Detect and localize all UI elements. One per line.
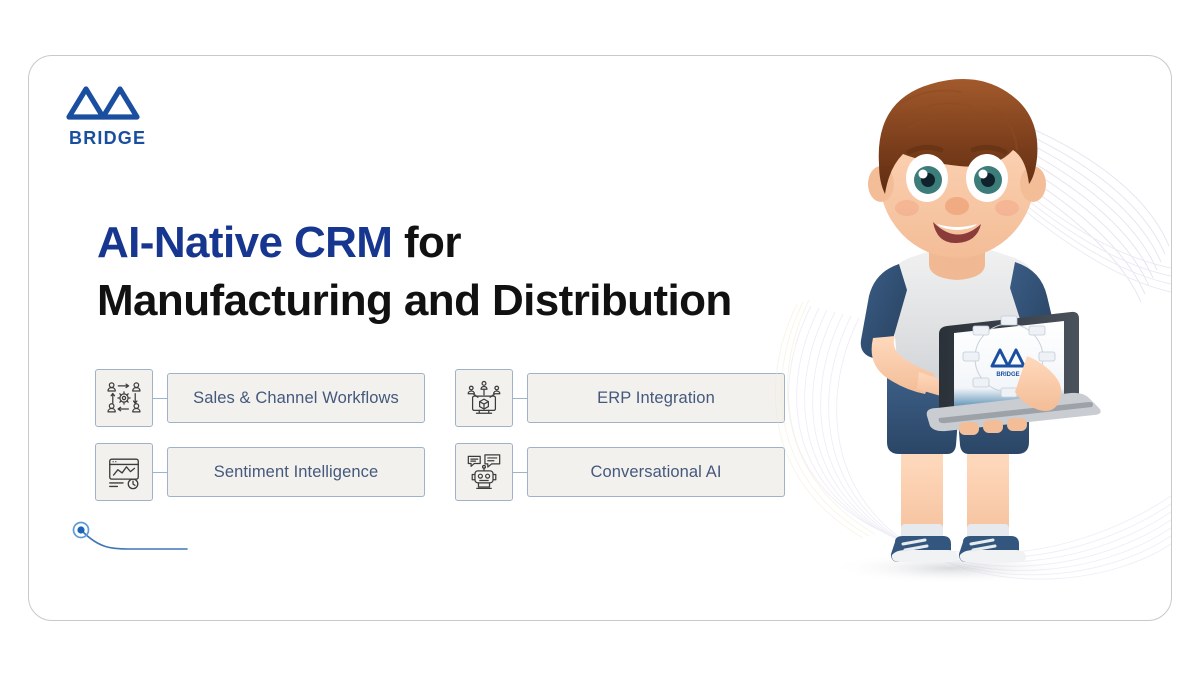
screenshot-root: BRIDGE AI-Native CRM for Manufacturing a… <box>0 0 1200 675</box>
laptop-screen-wordmark: BRIDGE <box>996 372 1019 378</box>
feature-label: Conversational AI <box>527 447 785 497</box>
feature-item-sentiment-intelligence[interactable]: Sentiment Intelligence <box>95 443 425 501</box>
headline-rest-text: for <box>392 218 460 267</box>
feature-connector-line <box>153 398 167 399</box>
bridge-double-peak-logo-icon <box>65 82 175 127</box>
hero-illustration: BRIDGE <box>751 56 1171 621</box>
analytics-chart-document-icon <box>95 443 153 501</box>
chatbot-robot-icon <box>455 443 513 501</box>
feature-row-1: Sales & Channel Workflows <box>95 369 785 427</box>
feature-item-erp-integration[interactable]: ERP Integration <box>455 369 785 427</box>
feature-label: Sentiment Intelligence <box>167 447 425 497</box>
brand-wordmark: BRIDGE <box>69 128 175 149</box>
laptop: BRIDGE <box>927 312 1101 431</box>
users-workflow-gear-icon <box>95 369 153 427</box>
feature-connector-line <box>513 472 527 473</box>
feature-label: ERP Integration <box>527 373 785 423</box>
feature-row-2: Sentiment Intelligence <box>95 443 785 501</box>
brand-logo[interactable]: BRIDGE <box>65 82 175 149</box>
hero-card: BRIDGE AI-Native CRM for Manufacturing a… <box>28 55 1172 621</box>
feature-label: Sales & Channel Workflows <box>167 373 425 423</box>
feature-grid: Sales & Channel Workflows <box>95 369 785 517</box>
feature-item-conversational-ai[interactable]: Conversational AI <box>455 443 785 501</box>
monitor-network-icon <box>455 369 513 427</box>
headline-accent-text: AI-Native CRM <box>97 218 392 267</box>
feature-item-sales-channel-workflows[interactable]: Sales & Channel Workflows <box>95 369 425 427</box>
blue-dot-connector-icon <box>69 518 199 558</box>
feature-connector-line <box>153 472 167 473</box>
feature-connector-line <box>513 398 527 399</box>
